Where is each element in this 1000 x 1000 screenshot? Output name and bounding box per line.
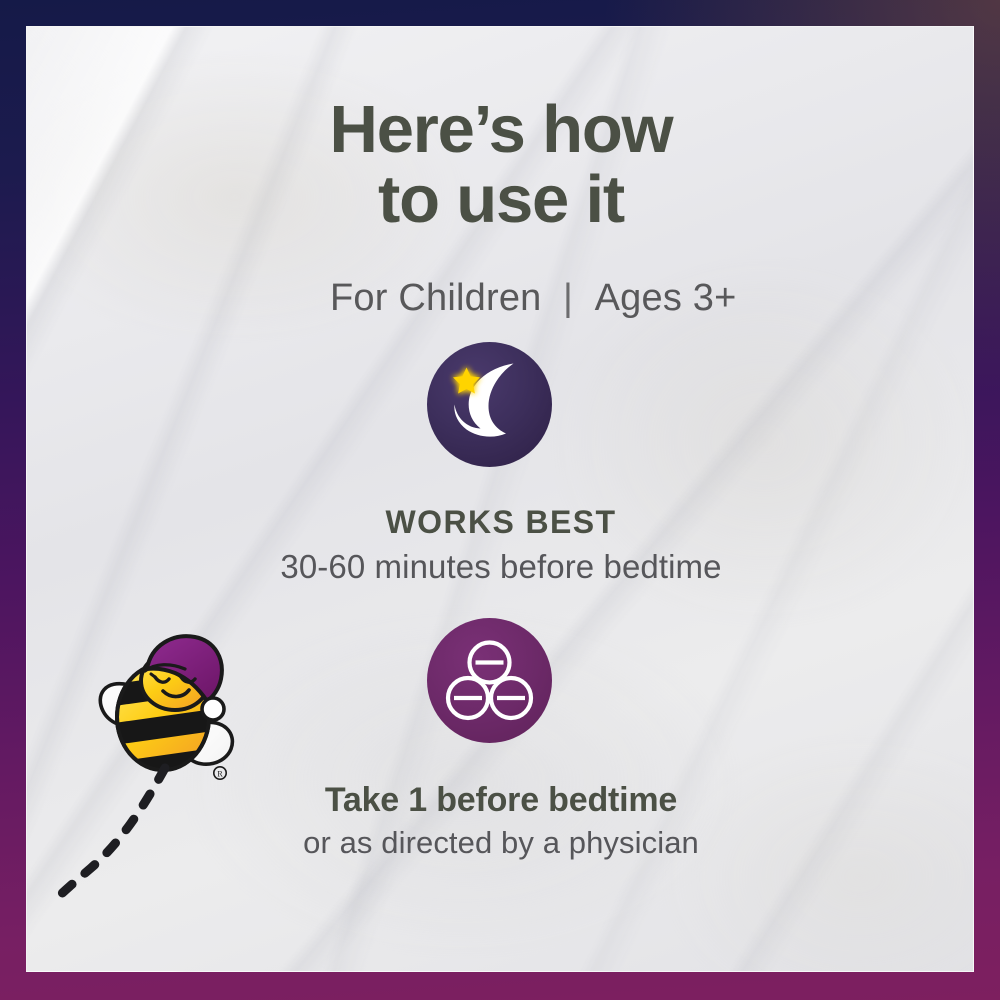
bee-flight-trail [27, 762, 207, 922]
subtitle-ages: Ages 3+ [595, 277, 737, 319]
poster-frame: Here’s how to use it For Children | Ages… [0, 0, 1000, 1000]
subtitle-audience: For Children [330, 277, 541, 319]
three-tablets-icon [427, 618, 552, 743]
marble-panel: Here’s how to use it For Children | Ages… [26, 26, 974, 972]
page-title: Here’s how to use it [27, 95, 974, 234]
crescent-moon-star-icon [427, 342, 552, 467]
page-title-line-2: to use it [27, 165, 974, 235]
step-1-title: WORKS BEST [27, 504, 974, 541]
step-1-subtitle: 30-60 minutes before bedtime [27, 548, 974, 586]
subtitle-divider: | [542, 277, 595, 319]
registered-trademark-symbol: R [214, 767, 226, 779]
svg-text:R: R [217, 769, 223, 778]
page-title-line-1: Here’s how [330, 92, 673, 167]
